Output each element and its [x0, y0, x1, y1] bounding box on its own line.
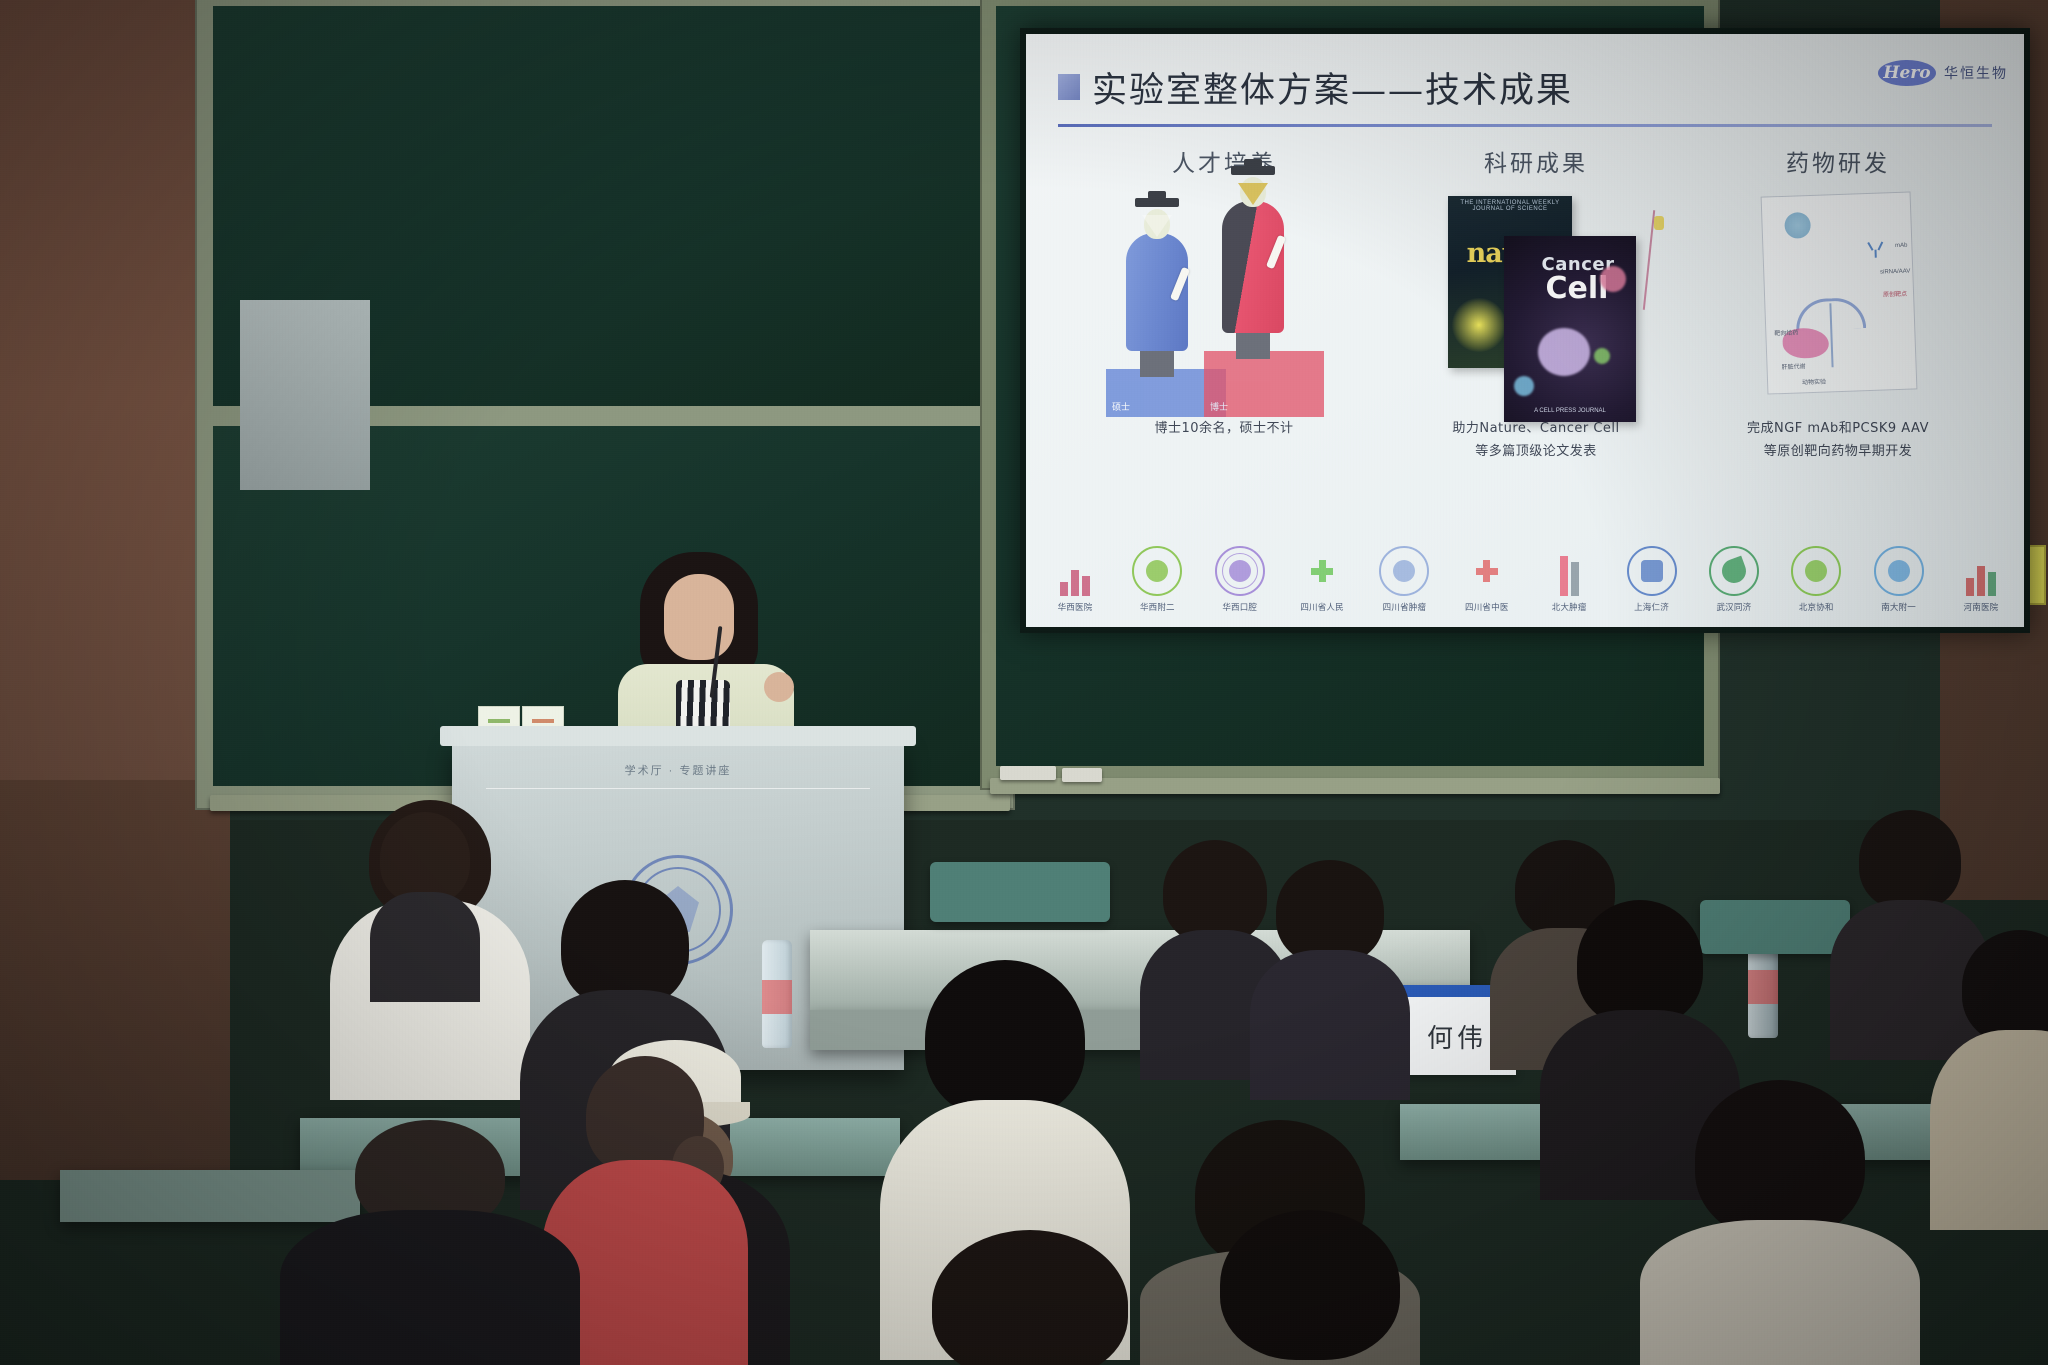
partner-logo-label: 上海仁济: [1619, 601, 1685, 613]
partner-logo-item: 华西口腔: [1207, 546, 1273, 613]
gown-red: [1222, 201, 1284, 333]
pumch-circle-icon: [1791, 546, 1841, 596]
graduate-doctor-figure: [1222, 177, 1284, 359]
journal-cover-cancer-cell: Cancer Cell A CELL PRESS JOURNAL: [1504, 236, 1636, 422]
nature-cover-strapline: THE INTERNATIONAL WEEKLY JOURNAL OF SCIE…: [1448, 196, 1572, 212]
diagram-note-target: 原创靶点: [1883, 289, 1907, 299]
legs: [1140, 351, 1174, 377]
partner-logo-label: 华西附二: [1124, 601, 1190, 613]
audience-head: [1962, 930, 2048, 1044]
diploma-icon: [1266, 235, 1286, 270]
slide-title: 实验室整体方案——技术成果: [1092, 62, 1573, 113]
partner-logo-label: 河南医院: [1948, 601, 2014, 613]
lectern-base: [240, 300, 370, 490]
mortarboard-icon: [1135, 198, 1179, 207]
partner-logo-item: 四川省中医: [1454, 546, 1520, 613]
partner-logo-item: 华西医院: [1042, 550, 1108, 613]
diagram-note-delivery: 靶向给药: [1774, 327, 1798, 337]
audience-body: [1640, 1220, 1920, 1365]
audience-head: [1276, 860, 1384, 964]
partner-logo-label: 南大附一: [1866, 601, 1932, 613]
audience-body: [1930, 1030, 2048, 1230]
presenter: [610, 552, 800, 752]
legs: [1236, 333, 1270, 359]
column-caption-2: 助力Nature、Cancer Cell 等多篇顶级论文发表: [1376, 417, 1696, 464]
presenter-face: [664, 574, 734, 660]
column-drug-rd: 药物研发 mAb siRNA/AAV 原创靶点 肝脏代谢: [1678, 144, 1998, 464]
partner-logo-strip: 华西医院 华西附二 华西口腔 四川省人民 四川省肿瘤: [1042, 521, 2014, 613]
column-caption-2-line2: 等多篇顶级论文发表: [1376, 440, 1696, 463]
partner-logo-label: 华西医院: [1042, 601, 1108, 613]
title-bullet-icon: [1058, 74, 1080, 100]
audience-member: [370, 812, 480, 1002]
renji-crest-icon: [1627, 546, 1677, 596]
audience-head: [1577, 900, 1703, 1026]
people-circle-icon: [1132, 546, 1182, 596]
partner-logo-label: 武汉同济: [1701, 601, 1767, 613]
henan-building-icon: [1958, 550, 2004, 596]
pedestal-doctor: 博士: [1204, 351, 1324, 417]
partner-logo-label: 北京协和: [1783, 601, 1849, 613]
hospital-building-icon: [1052, 550, 1098, 596]
partner-logo-item: 南大附一: [1866, 546, 1932, 613]
graduates-illustration: 硕士 博士: [1064, 192, 1384, 417]
lecture-hall-scene: 实验室整体方案——技术成果 Hero 华恒生物 人才培养 硕士 博士: [0, 0, 2048, 1365]
slide-columns: 人才培养 硕士 博士: [1026, 144, 2024, 544]
column-heading-3: 药物研发: [1678, 144, 1998, 178]
column-caption-3-line2: 等原创靶向药物早期开发: [1678, 440, 1998, 463]
audience-body: [1250, 950, 1410, 1100]
mortarboard-icon: [1231, 166, 1275, 175]
partner-logo-item: 武汉同济: [1701, 546, 1767, 613]
flag-mark-icon: [1546, 550, 1592, 596]
partner-logo-label: 四川省人民: [1289, 601, 1355, 613]
partner-logo-item: 北京协和: [1783, 546, 1849, 613]
slide-canvas: 实验室整体方案——技术成果 Hero 华恒生物 人才培养 硕士 博士: [1026, 34, 2024, 627]
cancer-cell-subtitle: A CELL PRESS JOURNAL: [1504, 408, 1636, 414]
title-underline: [1058, 124, 1992, 127]
dna-strand-icon: [1638, 210, 1682, 330]
audience-head: [932, 1230, 1128, 1365]
collar-icon: [1142, 215, 1172, 237]
cover-blob: [1538, 328, 1590, 376]
collar-icon: [1238, 183, 1268, 205]
left-wall-lower: [0, 780, 230, 1180]
partner-logo-label: 四川省肿瘤: [1371, 601, 1437, 613]
cover-blob: [1514, 376, 1534, 396]
brand-name: 华恒生物: [1944, 63, 2008, 83]
partner-logo-item: 上海仁济: [1619, 546, 1685, 613]
column-caption-1-line1: 博士10余名，硕士不计: [1064, 417, 1384, 440]
partner-logo-item: 河南医院: [1948, 550, 2014, 613]
audience-member: [1930, 930, 2048, 1230]
presenter-hand: [764, 672, 794, 702]
red-cross-icon: [1462, 546, 1512, 596]
pedestal-label-doctor: 博士: [1210, 400, 1228, 413]
nanjing-circle-icon: [1874, 546, 1924, 596]
column-caption-3: 完成NGF mAb和PCSK9 AAV 等原创靶向药物早期开发: [1678, 417, 1998, 464]
tongji-circle-icon: [1709, 546, 1759, 596]
audience-member: [1250, 860, 1410, 1100]
audience-member: [870, 1230, 1190, 1365]
audience-body: [370, 892, 480, 1002]
lectern-header-text: 学术厅 · 专题讲座: [452, 762, 904, 778]
diploma-icon: [1170, 267, 1190, 302]
cross-leaf-icon: [1297, 546, 1347, 596]
lectern-top-edge: [440, 726, 916, 746]
column-heading-1: 人才培养: [1064, 144, 1384, 178]
diagram-note-mab: mAb: [1895, 243, 1908, 249]
audience-body: [280, 1210, 580, 1365]
diagram-note-sirna: siRNA/AAV: [1880, 269, 1910, 276]
audience-head: [380, 812, 470, 904]
company-brand: Hero 华恒生物: [1878, 60, 2008, 86]
audience-head: [561, 880, 689, 1008]
hero-logo-icon: Hero: [1878, 60, 1936, 86]
partner-logo-item: 华西附二: [1124, 546, 1190, 613]
partner-logo-item: 四川省人民: [1289, 546, 1355, 613]
projection-screen: 实验室整体方案——技术成果 Hero 华恒生物 人才培养 硕士 博士: [1020, 28, 2030, 633]
cover-blob: [1600, 266, 1626, 292]
audience-member: [280, 1120, 580, 1365]
partner-logo-label: 北大肿瘤: [1536, 601, 1602, 613]
column-caption-3-line1: 完成NGF mAb和PCSK9 AAV: [1678, 417, 1998, 440]
nature-cover-art: [1452, 298, 1506, 352]
column-talent: 人才培养 硕士 博士: [1064, 144, 1384, 440]
audience-head: [1695, 1080, 1865, 1238]
cell-icon: [1784, 212, 1811, 239]
cover-blob: [1594, 348, 1610, 364]
wheat-crest-icon: [1379, 546, 1429, 596]
audience-head: [925, 960, 1085, 1118]
graduate-master-figure: [1126, 209, 1188, 377]
chair-back[interactable]: [930, 862, 1110, 922]
eraser-b[interactable]: [1062, 768, 1102, 782]
dental-circle-icon: [1215, 546, 1265, 596]
partner-logo-item: 北大肿瘤: [1536, 550, 1602, 613]
gown-blue: [1126, 233, 1188, 351]
antibody-icon: [1869, 241, 1882, 257]
audience-member: [1640, 1080, 1920, 1365]
audience-head: [1220, 1210, 1400, 1360]
column-heading-2: 科研成果: [1376, 144, 1696, 178]
eraser-a[interactable]: [1000, 766, 1056, 780]
partner-logo-label: 四川省中医: [1454, 601, 1520, 613]
partner-logo-item: 四川省肿瘤: [1371, 546, 1437, 613]
slide-header: 实验室整体方案——技术成果: [1058, 60, 2000, 116]
audience-head: [1859, 810, 1961, 910]
drug-development-illustration: mAb siRNA/AAV 原创靶点 肝脏代谢 动物实验 靶向给药: [1678, 192, 1998, 417]
partner-logo-label: 华西口腔: [1207, 601, 1273, 613]
left-wall-upper: [0, 0, 215, 880]
diagram-note-liver: 肝脏代谢: [1781, 361, 1805, 371]
diagram-note-animal: 动物实验: [1802, 377, 1826, 387]
pedestal-label-master: 硕士: [1112, 400, 1130, 413]
audience-member: [1160, 1210, 1460, 1365]
mechanism-diagram: mAb siRNA/AAV 原创靶点 肝脏代谢 动物实验 靶向给药: [1761, 191, 1918, 394]
water-bottle[interactable]: [762, 940, 792, 1048]
